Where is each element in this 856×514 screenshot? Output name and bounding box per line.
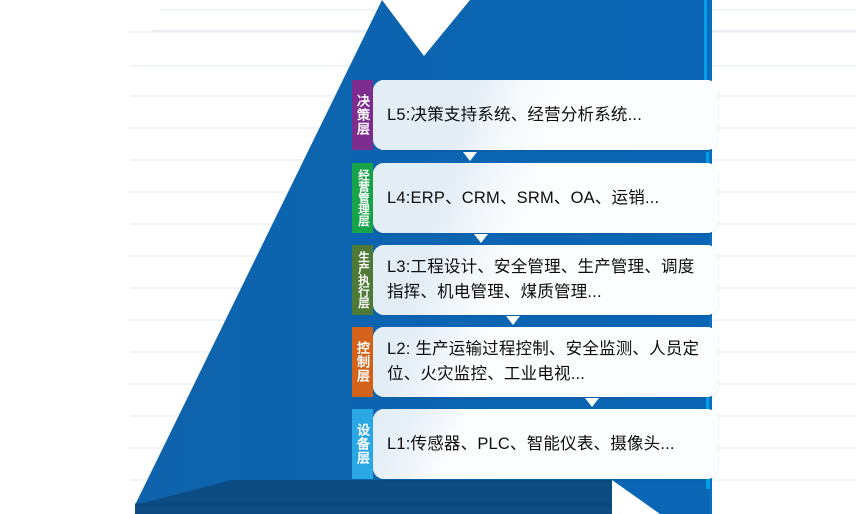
level-text-l5: L5:决策支持系统、经营分析系统... xyxy=(387,103,652,128)
level-row-l5[interactable]: 决策层 L5:决策支持系统、经营分析系统... xyxy=(352,80,718,150)
base-shadow-line xyxy=(135,503,612,506)
level-text-l4: L4:ERP、CRM、SRM、OA、运销... xyxy=(387,186,669,211)
level-card-l2[interactable]: L2: 生产运输过程控制、安全监测、人员定 位、火灾监控、工业电视... xyxy=(373,327,718,397)
level-card-l4[interactable]: L4:ERP、CRM、SRM、OA、运销... xyxy=(373,163,718,233)
level-tag-l5: 决策层 xyxy=(352,80,373,150)
level-card-l3[interactable]: L3:工程设计、安全管理、生产管理、调度 指挥、机电管理、煤质管理... xyxy=(373,245,718,315)
triangle-down-icon-l5 xyxy=(463,152,477,161)
triangle-down-icon-l3 xyxy=(506,316,520,325)
triangle-down-icon-l2 xyxy=(585,398,599,407)
level-row-l4[interactable]: 经营管理层 L4:ERP、CRM、SRM、OA、运销... xyxy=(352,163,718,233)
level-text-l1: L1:传感器、PLC、智能仪表、摄像头... xyxy=(387,432,685,457)
level-row-l2[interactable]: 控制层 L2: 生产运输过程控制、安全监测、人员定 位、火灾监控、工业电视... xyxy=(352,327,718,397)
triangle-down-icon-l4 xyxy=(474,234,488,243)
level-card-l5[interactable]: L5:决策支持系统、经营分析系统... xyxy=(373,80,718,150)
level-tag-l4: 经营管理层 xyxy=(352,163,373,233)
pyramid-architecture-diagram: 决策层 L5:决策支持系统、经营分析系统... 经营管理层 L4:ERP、CRM… xyxy=(0,0,856,514)
level-text-l3: L3:工程设计、安全管理、生产管理、调度 指挥、机电管理、煤质管理... xyxy=(387,255,704,305)
level-card-l1[interactable]: L1:传感器、PLC、智能仪表、摄像头... xyxy=(373,409,718,479)
level-tag-l3: 生产执行层 xyxy=(352,245,373,315)
level-row-l3[interactable]: 生产执行层 L3:工程设计、安全管理、生产管理、调度 指挥、机电管理、煤质管理.… xyxy=(352,245,718,315)
level-tag-l2: 控制层 xyxy=(352,327,373,397)
level-row-l1[interactable]: 设备层 L1:传感器、PLC、智能仪表、摄像头... xyxy=(352,409,718,479)
level-text-l2: L2: 生产运输过程控制、安全监测、人员定 位、火灾监控、工业电视... xyxy=(387,337,709,387)
level-tag-l1: 设备层 xyxy=(352,409,373,479)
